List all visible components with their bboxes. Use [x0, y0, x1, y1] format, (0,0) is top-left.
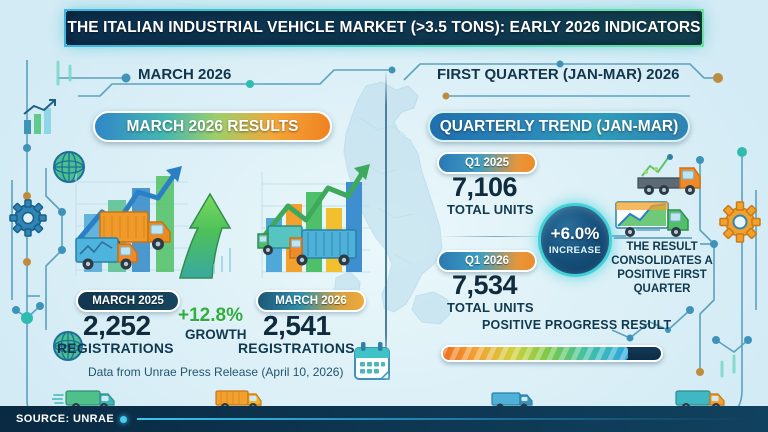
unit-march-2026: REGISTRATIONS [238, 340, 355, 356]
badge-march-2025: MARCH 2025 [76, 290, 180, 312]
result-note: THE RESULT CONSOLIDATES A POSITIVE FIRST… [606, 240, 718, 296]
badge-q1-2025-label: Q1 2025 [465, 157, 509, 169]
gear-icon-right [718, 200, 762, 244]
calendar-icon [352, 340, 392, 382]
illustration-trucks-growth-arrow [62, 152, 242, 287]
bar-chart-icon [18, 98, 58, 138]
chart-truck-illustration [612, 196, 712, 242]
unit-q1-2025: TOTAL UNITS [447, 202, 534, 217]
page-title: THE ITALIAN INDUSTRIAL VEHICLE MARKET (>… [67, 19, 700, 37]
value-q1-2026: 7,534 [452, 270, 517, 301]
right-panel-separator [441, 236, 551, 237]
increase-label: INCREASE [549, 245, 601, 256]
value-march-2025: 2,252 [83, 310, 151, 342]
unit-q1-2026: TOTAL UNITS [447, 300, 534, 315]
right-section-heading: FIRST QUARTER (JAN-MAR) 2026 [437, 66, 680, 83]
flatbed-truck-icon [634, 152, 710, 200]
left-section-heading: MARCH 2026 [138, 66, 231, 83]
center-divider [385, 70, 387, 370]
source-line [137, 418, 750, 420]
badge-march-2026: MARCH 2026 [256, 290, 366, 312]
progress-bar-fill [443, 347, 628, 360]
quarterly-trend-banner-label: QUARTERLY TREND (JAN-MAR) [440, 118, 679, 136]
source-label: SOURCE: UNRAE [16, 413, 114, 425]
badge-q1-2026: Q1 2026 [437, 250, 537, 272]
page-title-banner: THE ITALIAN INDUSTRIAL VEHICLE MARKET (>… [64, 9, 704, 47]
value-march-2026: 2,541 [263, 310, 331, 342]
gear-icon-left [8, 198, 48, 238]
data-source-caption: Data from Unrae Press Release (April 10,… [88, 365, 343, 379]
progress-label: POSITIVE PROGRESS RESULT [482, 318, 671, 332]
value-q1-2025: 7,106 [452, 172, 517, 203]
badge-q1-2025: Q1 2025 [437, 152, 537, 174]
increase-badge: +6.0% INCREASE [538, 203, 612, 277]
quarterly-trend-banner: QUARTERLY TREND (JAN-MAR) [428, 111, 690, 142]
footer-bar: SOURCE: UNRAE [0, 406, 768, 432]
march-results-banner: MARCH 2026 RESULTS [93, 111, 332, 142]
badge-march-2026-label: MARCH 2026 [275, 295, 347, 307]
infographic-root: THE ITALIAN INDUSTRIAL VEHICLE MARKET (>… [0, 0, 768, 432]
source-dot-icon [120, 416, 127, 423]
badge-q1-2026-label: Q1 2026 [465, 255, 509, 267]
progress-bar [441, 345, 663, 362]
badge-march-2025-label: MARCH 2025 [92, 295, 164, 307]
march-results-banner-label: MARCH 2026 RESULTS [127, 118, 299, 136]
illustration-bars-trucks [252, 152, 378, 287]
increase-percentage: +6.0% [551, 224, 600, 244]
growth-percentage: +12.8% [178, 305, 243, 327]
unit-march-2025: REGISTRATIONS [57, 340, 174, 356]
